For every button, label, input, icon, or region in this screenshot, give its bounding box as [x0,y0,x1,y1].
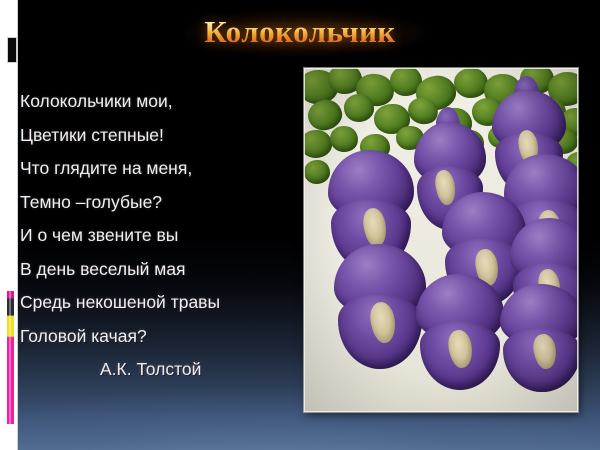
leaf-icon [344,94,374,122]
decorative-color-bar-tip [6,424,15,430]
flower-photo [304,68,578,412]
poem-author: А.К. Толстой [20,353,295,387]
bell-flower [416,274,504,386]
poem-block: Колокольчики мои, Цветики степные! Что г… [20,85,295,387]
bell-flower [334,244,426,364]
poem-line: Головой качая? [20,320,295,354]
photo-canvas [304,68,578,412]
poem-line: И о чем звените вы [20,219,295,253]
poem-line: В день веселый мая [20,253,295,287]
left-margin-strip-edge [17,0,18,450]
poem-line: Колокольчики мои, [20,85,295,119]
poem-line: Средь некошеной травы [20,286,295,320]
poem-line: Цветики степные! [20,119,295,153]
page-title: Колокольчик [0,16,600,47]
poem-line: Что глядите на меня, [20,152,295,186]
leaf-icon [304,160,330,184]
leaf-icon [454,68,488,98]
poem-line: Темно –голубые? [20,186,295,220]
decorative-color-bar-highlight [9,291,11,424]
bell-flower [500,284,578,388]
slide: Колокольчик Колокольчики мои, Цветики ст… [0,0,600,450]
